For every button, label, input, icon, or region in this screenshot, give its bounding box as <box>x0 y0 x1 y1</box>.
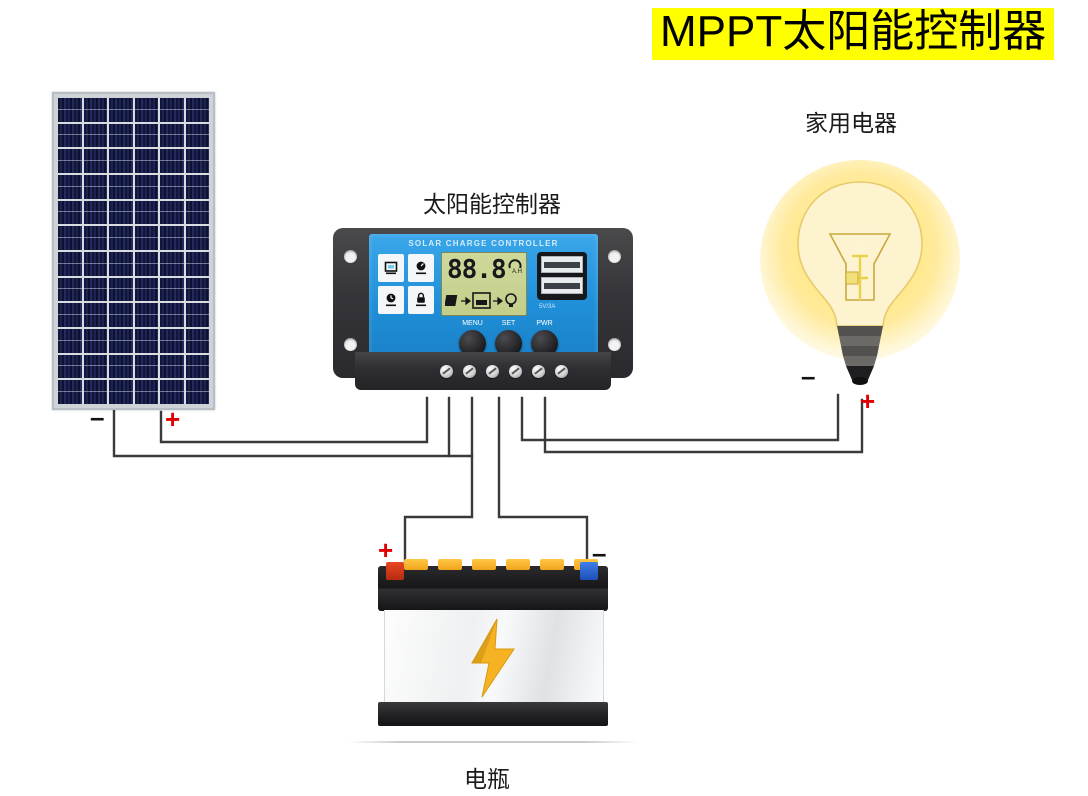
terminal-screw[interactable] <box>486 365 499 378</box>
solar-cell <box>58 355 82 379</box>
battery-label: 电瓶 <box>464 760 510 794</box>
solar-cell <box>186 175 210 199</box>
solar-cell <box>84 175 108 199</box>
wire-controller-battery-negative <box>499 398 587 565</box>
solar-cell <box>160 278 184 302</box>
solar-cell <box>186 98 210 122</box>
usb-port[interactable] <box>541 256 583 273</box>
solar-cell <box>58 149 82 173</box>
controller-label: 太阳能控制器 <box>423 185 561 219</box>
lcd-digit-readout: 88.8 <box>447 257 506 283</box>
solar-panel <box>52 92 215 410</box>
terminal-screw[interactable] <box>532 365 545 378</box>
controller-lcd-display: 88.8 A.H <box>441 252 527 316</box>
solar-cell <box>135 329 159 353</box>
controller-terminal-bar <box>355 352 611 390</box>
terminal-screw[interactable] <box>440 365 453 378</box>
usb-port-block[interactable] <box>537 252 587 300</box>
solar-cell <box>135 98 159 122</box>
solar-cell <box>109 278 133 302</box>
solar-cell <box>84 252 108 276</box>
solar-cell <box>186 329 210 353</box>
solar-cell <box>135 355 159 379</box>
clock-icon <box>378 286 404 314</box>
solar-cell <box>109 226 133 250</box>
solar-cell <box>135 149 159 173</box>
solar-cell <box>135 124 159 148</box>
battery-top-cover <box>378 566 608 611</box>
bulb-graphic <box>760 160 960 400</box>
battery <box>372 560 614 735</box>
solar-cell <box>160 329 184 353</box>
solar-cell <box>84 201 108 225</box>
solar-cell <box>84 98 108 122</box>
solar-cell <box>186 355 210 379</box>
solar-cell <box>135 380 159 404</box>
solar-charge-controller[interactable]: SOLAR CHARGE CONTROLLER 88.8 <box>333 228 633 396</box>
button-power-caption: PWR <box>531 320 558 327</box>
solar-cell <box>109 124 133 148</box>
bulb-negative-sign: – <box>801 363 815 389</box>
mount-hole-icon <box>608 250 621 263</box>
mount-hole-icon <box>344 338 357 351</box>
usb-caption-label: 5V/3A <box>539 304 555 310</box>
solar-cell <box>84 226 108 250</box>
solar-cell <box>109 175 133 199</box>
solar-panel-cell-grid <box>58 98 209 404</box>
solar-cell <box>160 149 184 173</box>
battery-cell-cap <box>472 559 496 570</box>
solar-cell <box>84 380 108 404</box>
solar-cell <box>109 201 133 225</box>
battery-negative-sign: – <box>592 540 606 566</box>
solar-cell <box>109 98 133 122</box>
solar-cell <box>109 252 133 276</box>
solar-cell <box>135 252 159 276</box>
solar-cell <box>58 278 82 302</box>
display-icon <box>378 254 404 282</box>
solar-cell <box>160 355 184 379</box>
solar-cell <box>135 226 159 250</box>
solar-cell <box>135 201 159 225</box>
wire-controller-load-positive <box>545 398 862 452</box>
solar-cell <box>58 201 82 225</box>
lightning-bolt-icon <box>464 617 524 699</box>
ground-shadow-line <box>348 741 638 743</box>
diagram-canvas: MPPT太阳能控制器 <box>0 0 1088 796</box>
battery-cell-cap <box>438 559 462 570</box>
solar-cell <box>84 355 108 379</box>
solar-cell <box>109 149 133 173</box>
solar-cell <box>186 124 210 148</box>
terminal-screw[interactable] <box>463 365 476 378</box>
battery-positive-sign: + <box>378 537 393 563</box>
battery-cell-cap <box>506 559 530 570</box>
solar-cell <box>58 226 82 250</box>
solar-cell <box>84 329 108 353</box>
button-select-caption: SET <box>495 320 522 327</box>
solar-cell <box>186 278 210 302</box>
lock-icon <box>408 286 434 314</box>
solar-cell <box>58 98 82 122</box>
light-bulb <box>760 160 960 400</box>
solar-cell <box>160 98 184 122</box>
solar-cell <box>109 380 133 404</box>
solar-cell <box>58 303 82 327</box>
battery-cell-cap <box>404 559 428 570</box>
solar-cell <box>84 278 108 302</box>
panel-positive-sign: + <box>165 406 180 432</box>
button-menu-caption: MENU <box>459 320 486 327</box>
wire-controller-load-negative <box>522 395 838 440</box>
solar-cell <box>186 303 210 327</box>
solar-cell <box>160 201 184 225</box>
battery-case <box>384 610 604 705</box>
terminal-screw[interactable] <box>555 365 568 378</box>
solar-cell <box>186 201 210 225</box>
solar-cell <box>186 226 210 250</box>
lcd-flow-diagram <box>445 291 523 311</box>
terminal-screw[interactable] <box>509 365 522 378</box>
controller-brand-text: SOLAR CHARGE CONTROLLER <box>369 239 598 248</box>
solar-cell <box>109 329 133 353</box>
mount-hole-icon <box>344 250 357 263</box>
solar-cell <box>109 303 133 327</box>
solar-cell <box>84 124 108 148</box>
solar-cell <box>135 175 159 199</box>
bulb-positive-sign: + <box>860 388 875 414</box>
lcd-unit-label: A.H <box>512 269 522 275</box>
solar-cell <box>186 380 210 404</box>
solar-cell <box>84 149 108 173</box>
mount-hole-icon <box>608 338 621 351</box>
solar-cell <box>58 175 82 199</box>
solar-cell <box>58 380 82 404</box>
usb-port[interactable] <box>541 277 583 294</box>
solar-cell <box>160 252 184 276</box>
battery-cell-cap <box>540 559 564 570</box>
solar-cell <box>160 380 184 404</box>
panel-negative-sign: – <box>90 404 104 430</box>
battery-base <box>378 702 608 726</box>
solar-cell <box>135 303 159 327</box>
controller-icon-pad <box>378 254 434 314</box>
gauge-icon <box>408 254 434 282</box>
solar-cell <box>186 149 210 173</box>
solar-cell <box>58 124 82 148</box>
solar-cell <box>84 303 108 327</box>
controller-faceplate: SOLAR CHARGE CONTROLLER 88.8 <box>369 234 598 366</box>
solar-cell <box>160 303 184 327</box>
solar-cell <box>186 252 210 276</box>
solar-cell <box>58 329 82 353</box>
wire-controller-battery-positive <box>405 398 472 565</box>
solar-cell <box>58 252 82 276</box>
solar-cell <box>135 278 159 302</box>
solar-cell <box>160 175 184 199</box>
solar-cell <box>160 124 184 148</box>
solar-cell <box>160 226 184 250</box>
appliance-label: 家用电器 <box>805 104 897 138</box>
solar-cell <box>109 355 133 379</box>
